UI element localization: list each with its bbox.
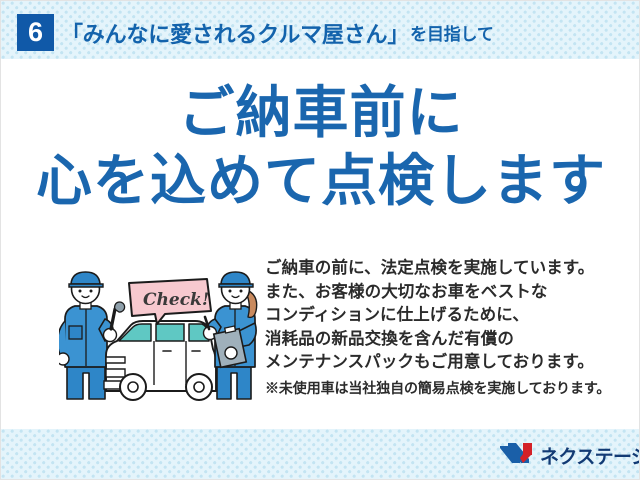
body-copy-line: コンディションに仕上げるために、 <box>265 304 629 328</box>
brand-logo: ネクステージ <box>499 442 640 469</box>
brand-name: ネクステージ <box>540 442 640 469</box>
speech-bubble-label: Check! <box>143 290 209 310</box>
wrench-icon <box>111 302 125 329</box>
advertisement-panel: 6 「みんなに愛されるクルマ屋さん」 を目指して ご納車前に 心を込めて点検しま… <box>0 0 640 480</box>
body-copy: ご納車の前に、法定点検を実施しています。 また、お客様の大切なお車をベストな コ… <box>265 257 629 400</box>
hero-line-2: 心を込めて点検します <box>1 151 640 211</box>
mechanics-illustration: Check! <box>59 269 264 401</box>
header-title-tail: を目指して <box>409 20 494 45</box>
body-copy-line: また、お客様の大切なお車をベストな <box>265 281 629 305</box>
header-title-main: 「みんなに愛されるクルマ屋さん」 <box>61 17 409 49</box>
hero-heading: ご納車前に 心を込めて点検します <box>1 83 640 212</box>
body-copy-line: メンテナンスパックもご用意しております。 <box>265 351 629 375</box>
check-speech-bubble: Check! <box>129 279 211 324</box>
body-copy-line: ご納車の前に、法定点検を実施しています。 <box>265 257 629 281</box>
nextage-n-mark-icon <box>499 442 533 469</box>
car-illustration <box>104 321 216 400</box>
header-title: 「みんなに愛されるクルマ屋さん」 を目指して <box>61 14 494 51</box>
hero-line-1: ご納車前に <box>1 83 640 143</box>
body-copy-note: ※未使用車は当社独自の簡易点検を実施しております。 <box>265 377 629 400</box>
body-copy-line: 消耗品の新品交換を含んだ有償の <box>265 328 629 352</box>
section-number-badge: 6 <box>17 14 54 51</box>
